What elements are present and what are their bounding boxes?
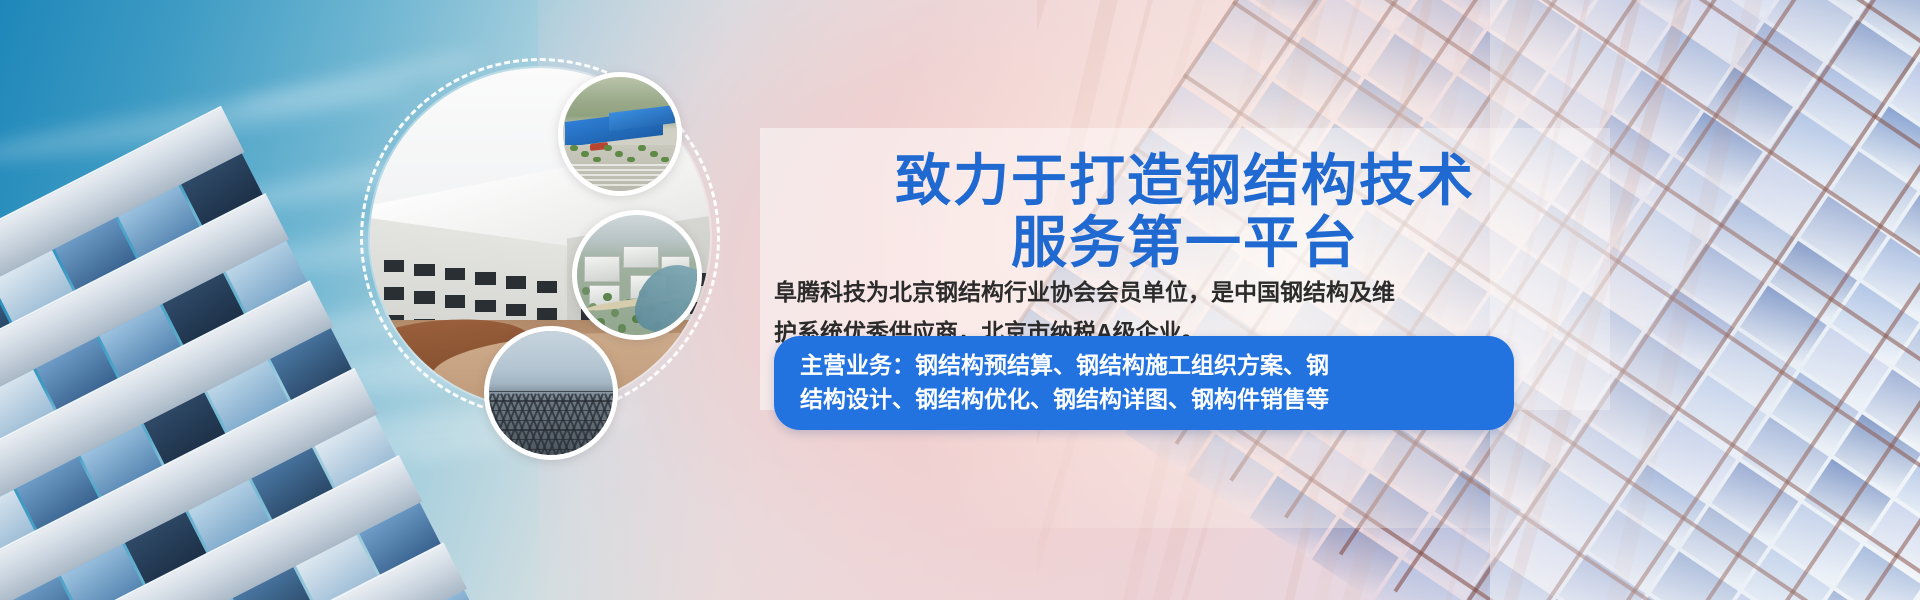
photo-collage	[360, 58, 780, 478]
page-title: 致力于打造钢结构技术 服务第一平台	[760, 150, 1610, 274]
badge-line-1: 主营业务：钢结构预结算、钢结构施工组织方案、钢	[800, 352, 1329, 378]
small-circle-photo-2	[572, 210, 702, 340]
small-circle-photo-1	[558, 72, 682, 196]
headline-line-2: 服务第一平台	[760, 212, 1610, 274]
headline-line-1: 致力于打造钢结构技术	[895, 148, 1475, 214]
badge-line-2: 结构设计、钢结构优化、钢结构详图、钢构件销售等	[800, 382, 1488, 416]
small-circle-photo-3	[484, 326, 618, 460]
description-line-1: 阜腾科技为北京钢结构行业协会会员单位，是中国钢结构及维	[774, 272, 1554, 312]
hero-banner: 致力于打造钢结构技术 服务第一平台 阜腾科技为北京钢结构行业协会会员单位，是中国…	[0, 0, 1920, 600]
services-badge: 主营业务：钢结构预结算、钢结构施工组织方案、钢 结构设计、钢结构优化、钢结构详图…	[774, 336, 1514, 430]
